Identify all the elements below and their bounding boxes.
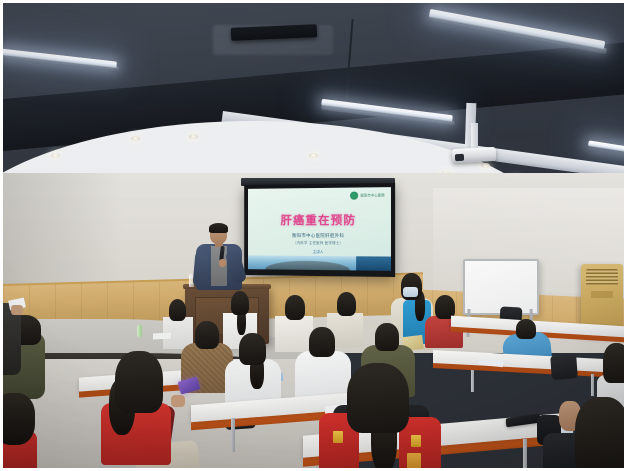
air-conditioner-panel	[591, 291, 613, 298]
slide-subtitle: 衡阳市中心医院肝胆外科	[248, 233, 391, 239]
slide-footer-landscape	[265, 261, 350, 271]
projection-screen: 衡阳市中心医院 肝癌重在预防 衡阳市中心医院肝胆外科 （内科学 主任医师 医学博…	[244, 183, 395, 277]
audience-head	[603, 343, 627, 383]
hospital-logo: 衡阳市中心医院	[350, 191, 384, 199]
water-bottle	[137, 325, 142, 337]
downlight	[309, 153, 318, 158]
presenter-hair	[209, 223, 228, 233]
volunteer-hand	[171, 395, 185, 407]
desk-leg	[471, 370, 474, 392]
desk-leg	[591, 374, 594, 396]
presentation-slide: 衡阳市中心医院 肝癌重在预防 衡阳市中心医院肝胆外科 （内科学 主任医师 医学博…	[248, 187, 391, 271]
lecture-hall-photo: 衡阳市中心医院 肝癌重在预防 衡阳市中心医院肝胆外科 （内科学 主任医师 医学博…	[0, 0, 627, 471]
hospital-logo-mark	[350, 192, 358, 200]
audience-head	[195, 321, 219, 349]
audience-head	[169, 299, 186, 321]
audience-head	[516, 319, 536, 339]
chair-back	[550, 354, 578, 380]
presenter-hand	[219, 259, 226, 267]
desk-leg	[523, 439, 527, 471]
face-mask-icon	[403, 287, 418, 297]
slide-footer-block	[356, 256, 391, 271]
vest-text-mark	[407, 453, 421, 471]
projector-lens-icon	[455, 154, 464, 161]
slide-title: 肝癌重在预防	[248, 212, 391, 228]
vest-emblem	[333, 431, 343, 443]
downlight	[481, 163, 490, 168]
audience-head-partial	[0, 393, 35, 445]
hospital-logo-text: 衡阳市中心医院	[360, 193, 384, 197]
audience-head	[239, 333, 266, 365]
audience-head	[337, 292, 356, 316]
audience-head	[575, 397, 627, 471]
volunteer-head	[347, 363, 409, 433]
downlight	[51, 153, 60, 158]
audience-head	[309, 327, 335, 357]
downlight	[131, 136, 140, 141]
audience-head	[375, 323, 399, 351]
audience-head	[231, 291, 249, 315]
slide-subtitle-secondary: （内科学 主任医师 医学博士）	[248, 240, 391, 246]
audience-member	[275, 316, 313, 352]
volunteer-head	[115, 351, 163, 413]
downlight	[189, 134, 198, 139]
air-conditioner-grille	[586, 269, 618, 285]
paper	[153, 333, 171, 340]
audience-hand	[11, 305, 23, 315]
slide-footer-image	[248, 255, 391, 270]
vest-emblem	[411, 435, 421, 447]
desk-leg	[231, 418, 235, 452]
audience-head	[285, 295, 305, 320]
